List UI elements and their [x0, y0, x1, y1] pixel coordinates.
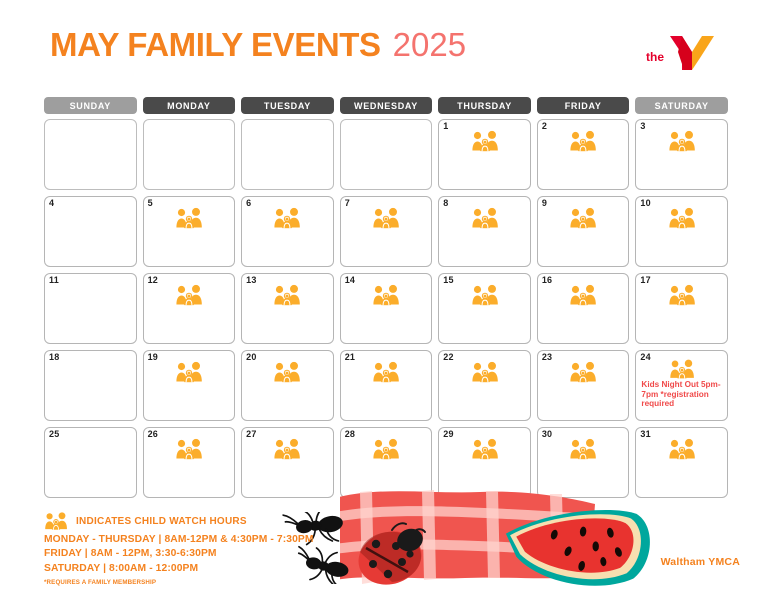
family-icon — [175, 361, 203, 383]
day-cell-19[interactable]: 19 — [143, 350, 236, 421]
day-cell-8[interactable]: 8 — [438, 196, 531, 267]
day-cell-5[interactable]: 5 — [143, 196, 236, 267]
day-number: 1 — [443, 121, 448, 131]
hours-line-saturday: SATURDAY | 8:00AM - 12:00PM — [44, 563, 444, 574]
legend-row: INDICATES CHILD WATCH HOURS — [44, 512, 444, 530]
day-number: 15 — [443, 275, 453, 285]
calendar-week-row: 45678910 — [44, 196, 728, 267]
family-icon — [273, 438, 301, 460]
branch-name: Waltham YMCA — [661, 556, 740, 568]
day-number: 5 — [148, 198, 153, 208]
day-header-saturday: SATURDAY — [635, 97, 728, 114]
day-number: 10 — [640, 198, 650, 208]
day-number: 12 — [148, 275, 158, 285]
day-cell-15[interactable]: 15 — [438, 273, 531, 344]
family-icon — [668, 207, 696, 229]
family-icon — [273, 207, 301, 229]
day-number: 2 — [542, 121, 547, 131]
day-number: 17 — [640, 275, 650, 285]
day-number: 22 — [443, 352, 453, 362]
family-icon — [569, 284, 597, 306]
day-header-tuesday: TUESDAY — [241, 97, 334, 114]
legend-label: INDICATES CHILD WATCH HOURS — [76, 516, 247, 527]
day-cell-12[interactable]: 12 — [143, 273, 236, 344]
calendar-week-row: 123 — [44, 119, 728, 190]
family-icon — [569, 361, 597, 383]
day-number: 6 — [246, 198, 251, 208]
day-number: 30 — [542, 429, 552, 439]
hours-line-monday-thursday: MONDAY - THURSDAY | 8AM-12PM & 4:30PM - … — [44, 534, 444, 545]
day-cell-3[interactable]: 3 — [635, 119, 728, 190]
day-cell-empty — [44, 119, 137, 190]
family-icon — [471, 284, 499, 306]
family-icon — [668, 438, 696, 460]
family-icon — [471, 130, 499, 152]
family-icon — [669, 359, 695, 379]
day-cell-13[interactable]: 13 — [241, 273, 334, 344]
day-number: 13 — [246, 275, 256, 285]
day-cell-10[interactable]: 10 — [635, 196, 728, 267]
family-icon — [569, 207, 597, 229]
calendar-week-row: 11121314151617 — [44, 273, 728, 344]
day-cell-1[interactable]: 1 — [438, 119, 531, 190]
day-number: 3 — [640, 121, 645, 131]
family-icon — [668, 130, 696, 152]
membership-fineprint: *REQUIRES A FAMILY MEMBERSHIP — [44, 579, 444, 586]
day-cell-21[interactable]: 21 — [340, 350, 433, 421]
day-cell-14[interactable]: 14 — [340, 273, 433, 344]
day-cell-18[interactable]: 18 — [44, 350, 137, 421]
family-icon — [273, 361, 301, 383]
day-cell-6[interactable]: 6 — [241, 196, 334, 267]
calendar-grid: SUNDAYMONDAYTUESDAYWEDNESDAYTHURSDAYFRID… — [44, 97, 728, 498]
family-icon — [273, 284, 301, 306]
calendar-week-row: 18192021222324Kids Night Out 5pm-7pm *re… — [44, 350, 728, 421]
family-icon — [175, 438, 203, 460]
hours-line-friday: FRIDAY | 8AM - 12PM, 3:30-6:30PM — [44, 548, 444, 559]
day-cell-9[interactable]: 9 — [537, 196, 630, 267]
day-cell-24[interactable]: 24Kids Night Out 5pm-7pm *registration r… — [635, 350, 728, 421]
footer-legend: INDICATES CHILD WATCH HOURS MONDAY - THU… — [44, 512, 444, 586]
day-of-week-header-row: SUNDAYMONDAYTUESDAYWEDNESDAYTHURSDAYFRID… — [44, 97, 728, 114]
day-cell-27[interactable]: 27 — [241, 427, 334, 498]
ymca-logo: the — [644, 22, 730, 80]
day-number: 21 — [345, 352, 355, 362]
page-title: MAY FAMILY EVENTS 2025 — [50, 28, 466, 61]
day-cell-2[interactable]: 2 — [537, 119, 630, 190]
day-number: 28 — [345, 429, 355, 439]
day-cell-empty — [340, 119, 433, 190]
day-number: 27 — [246, 429, 256, 439]
family-icon — [372, 207, 400, 229]
family-icon — [471, 207, 499, 229]
family-icon — [471, 361, 499, 383]
day-number: 7 — [345, 198, 350, 208]
day-cell-25[interactable]: 25 — [44, 427, 137, 498]
day-cell-empty — [241, 119, 334, 190]
day-header-wednesday: WEDNESDAY — [340, 97, 433, 114]
svg-text:the: the — [646, 50, 664, 64]
day-number: 25 — [49, 429, 59, 439]
day-number: 24 — [640, 352, 650, 362]
day-number: 19 — [148, 352, 158, 362]
family-icon — [471, 438, 499, 460]
day-number: 23 — [542, 352, 552, 362]
day-cell-23[interactable]: 23 — [537, 350, 630, 421]
page-header: MAY FAMILY EVENTS 2025 the — [0, 0, 768, 92]
day-number: 8 — [443, 198, 448, 208]
day-cell-7[interactable]: 7 — [340, 196, 433, 267]
day-number: 18 — [49, 352, 59, 362]
title-year-text: 2025 — [393, 28, 466, 61]
day-number: 29 — [443, 429, 453, 439]
calendar-weeks: 123456789101112131415161718192021222324K… — [44, 119, 728, 498]
family-icon — [44, 512, 68, 530]
family-icon — [175, 284, 203, 306]
family-icon — [569, 438, 597, 460]
day-number: 9 — [542, 198, 547, 208]
family-icon — [372, 438, 400, 460]
day-number: 16 — [542, 275, 552, 285]
day-number: 11 — [49, 275, 59, 285]
day-number: 14 — [345, 275, 355, 285]
family-icon — [372, 284, 400, 306]
day-cell-26[interactable]: 26 — [143, 427, 236, 498]
family-icon — [668, 284, 696, 306]
day-header-thursday: THURSDAY — [438, 97, 531, 114]
day-number: 20 — [246, 352, 256, 362]
day-number: 4 — [49, 198, 54, 208]
day-cell-20[interactable]: 20 — [241, 350, 334, 421]
day-cell-16[interactable]: 16 — [537, 273, 630, 344]
day-header-friday: FRIDAY — [537, 97, 630, 114]
family-icon — [175, 207, 203, 229]
title-main-text: MAY FAMILY EVENTS — [50, 28, 381, 61]
day-cell-empty — [143, 119, 236, 190]
day-header-sunday: SUNDAY — [44, 97, 137, 114]
event-note: Kids Night Out 5pm-7pm *registration req… — [641, 380, 724, 409]
day-header-monday: MONDAY — [143, 97, 236, 114]
family-icon — [569, 130, 597, 152]
family-icon — [372, 361, 400, 383]
day-number: 26 — [148, 429, 158, 439]
day-cell-11[interactable]: 11 — [44, 273, 137, 344]
day-cell-4[interactable]: 4 — [44, 196, 137, 267]
day-cell-17[interactable]: 17 — [635, 273, 728, 344]
day-cell-22[interactable]: 22 — [438, 350, 531, 421]
day-number: 31 — [640, 429, 650, 439]
